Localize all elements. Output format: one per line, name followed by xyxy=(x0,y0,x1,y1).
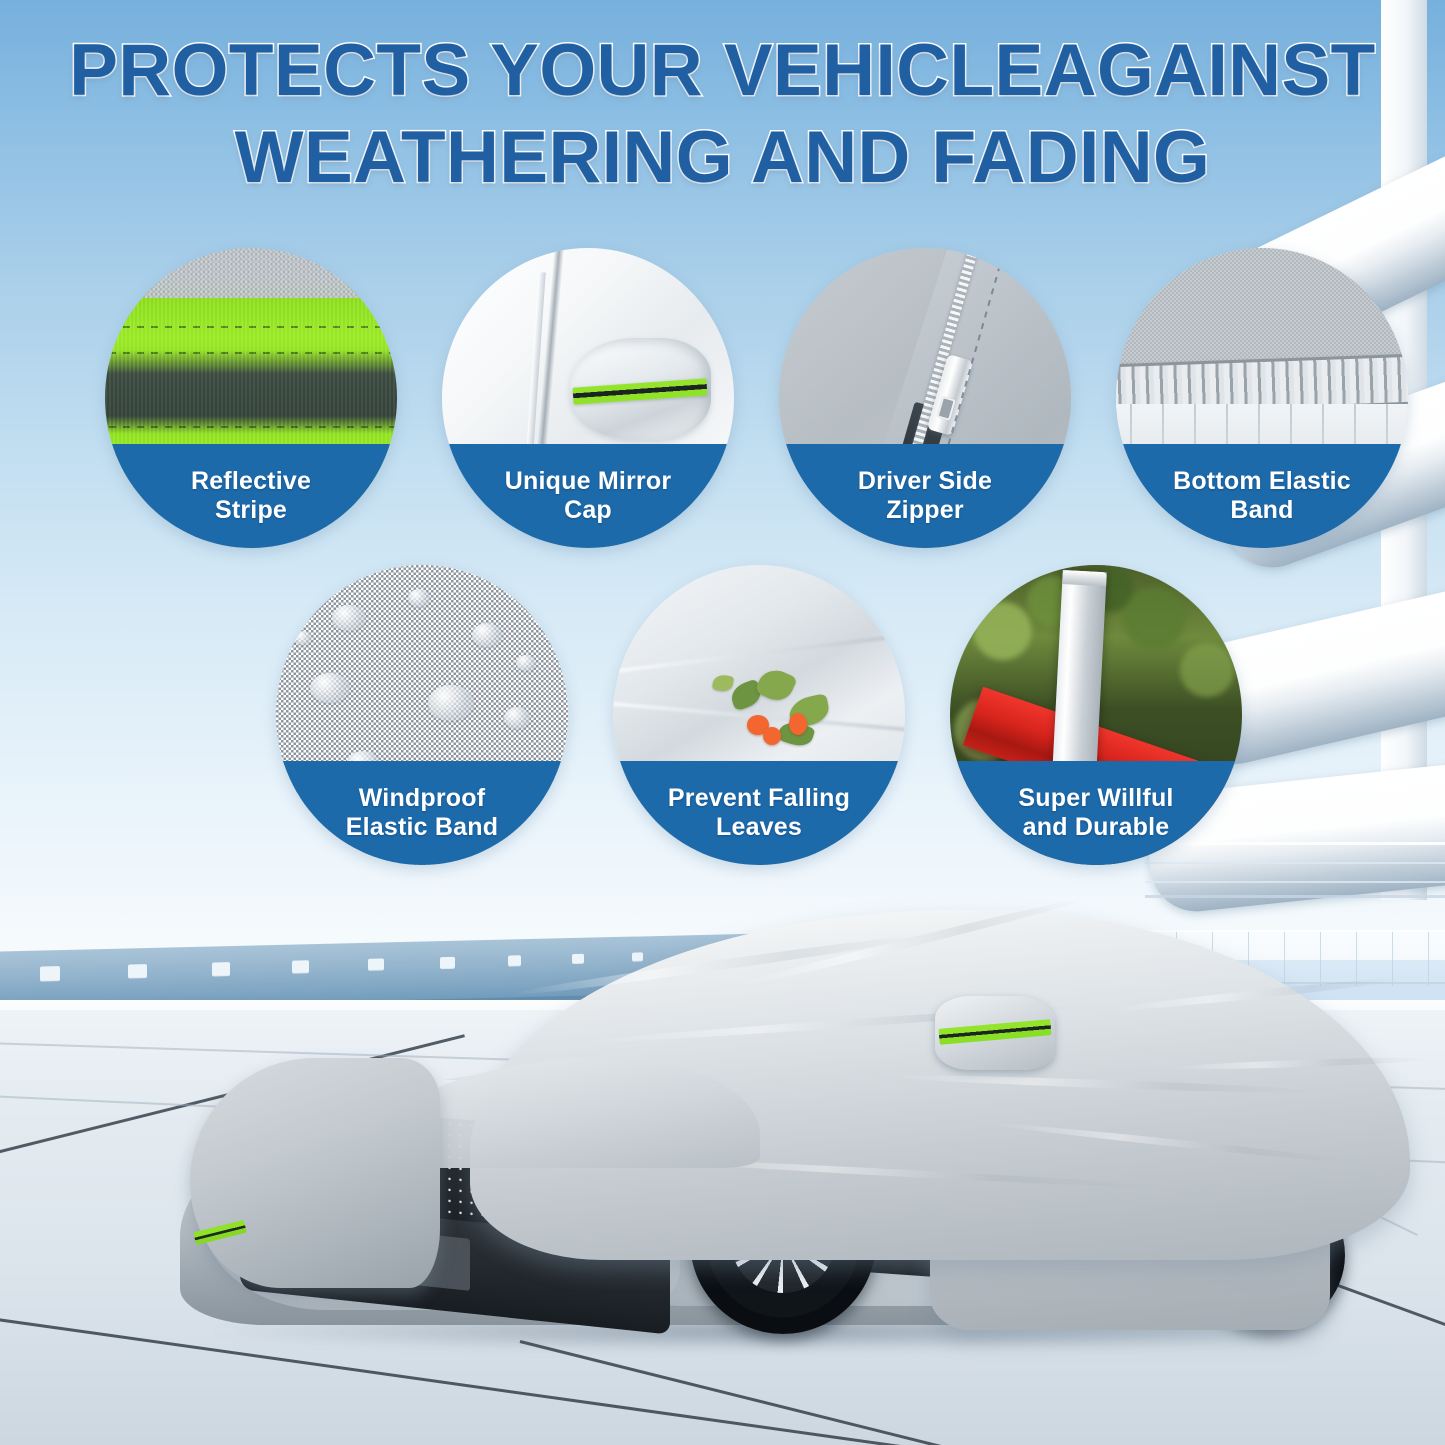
feature-label-line-1: Prevent Falling xyxy=(668,784,850,812)
feature-label-line-1: Bottom Elastic xyxy=(1173,467,1351,495)
cover-fabric-top xyxy=(1116,248,1408,368)
water-droplet-icon xyxy=(504,707,530,729)
cover-wrinkle xyxy=(991,1120,1370,1167)
water-droplet-icon xyxy=(332,605,366,631)
cover-wrinkle xyxy=(890,1072,1320,1095)
feature-label-band: Windproof Elastic Band xyxy=(276,761,568,865)
feature-label: Super Willful and Durable xyxy=(1010,784,1181,842)
feature-label: Bottom Elastic Band xyxy=(1165,467,1359,525)
feature-label-line-2: Band xyxy=(1230,496,1293,524)
feature-label-band: Driver Side Zipper xyxy=(779,444,1071,548)
feature-label-band: Reflective Stripe xyxy=(105,444,397,548)
feature-label-line-2: Leaves xyxy=(716,813,802,841)
feature-label: Reflective Stripe xyxy=(183,467,319,525)
product-infographic-stage: PROTECTS YOUR VEHICLEAGAINST WEATHERING … xyxy=(0,0,1445,1445)
feature-card-reflective-stripe[interactable]: Reflective Stripe xyxy=(105,248,397,548)
feature-label: Prevent Falling Leaves xyxy=(660,784,858,842)
feature-label-band: Super Willful and Durable xyxy=(950,761,1242,865)
feature-card-windproof-elastic-band[interactable]: Windproof Elastic Band xyxy=(276,565,568,865)
car-cover-mirror-pocket xyxy=(935,996,1055,1070)
hero-car-photo xyxy=(0,880,1445,1445)
feature-label-line-2: Elastic Band xyxy=(346,813,498,841)
feature-card-prevent-falling-leaves[interactable]: Prevent Falling Leaves xyxy=(613,565,905,865)
leaf-icon xyxy=(754,664,797,706)
feature-label-band: Bottom Elastic Band xyxy=(1116,444,1408,548)
water-droplet-icon xyxy=(516,655,536,671)
cover-wrinkle xyxy=(1110,974,1409,1013)
feature-label-line-1: Reflective xyxy=(191,467,311,495)
feature-label: Unique Mirror Cap xyxy=(497,467,680,525)
berry-icon xyxy=(789,713,807,735)
feature-label-band: Unique Mirror Cap xyxy=(442,444,734,548)
water-droplet-icon xyxy=(472,623,502,647)
feature-label-line-2: Cap xyxy=(564,496,612,524)
water-droplet-icon xyxy=(310,673,350,703)
reflective-green-stripe xyxy=(193,1220,247,1245)
feature-label-line-2: and Durable xyxy=(1023,813,1170,841)
cover-wrinkle xyxy=(1170,1055,1430,1071)
berry-icon xyxy=(763,727,781,745)
feature-label-line-1: Unique Mirror xyxy=(505,467,672,495)
water-droplet-icon xyxy=(408,589,430,607)
reflective-green-stripe xyxy=(939,1019,1052,1045)
feature-card-bottom-elastic-band[interactable]: Bottom Elastic Band xyxy=(1116,248,1408,548)
fabric-crease xyxy=(613,630,905,675)
leaf-icon xyxy=(712,673,734,692)
cover-wrinkle xyxy=(511,931,928,999)
feature-card-super-willful-and-durable[interactable]: Super Willful and Durable xyxy=(950,565,1242,865)
feature-label-line-2: Zipper xyxy=(886,496,964,524)
feature-label: Driver Side Zipper xyxy=(850,467,1000,525)
car-cover-front-nose xyxy=(190,1058,440,1288)
water-droplet-icon xyxy=(294,631,312,645)
feature-card-driver-side-zipper[interactable]: Driver Side Zipper xyxy=(779,248,1071,548)
water-droplet-icon xyxy=(428,685,474,721)
feature-label-line-1: Driver Side xyxy=(858,467,992,495)
feature-card-unique-mirror-cap[interactable]: Unique Mirror Cap xyxy=(442,248,734,548)
feature-label-line-2: Stripe xyxy=(215,496,287,524)
feature-label-band: Prevent Falling Leaves xyxy=(613,761,905,865)
cover-wrinkle xyxy=(734,895,1085,991)
feature-label: Windproof Elastic Band xyxy=(338,784,506,842)
feature-label-line-1: Windproof xyxy=(359,784,486,812)
feature-label-line-1: Super Willful xyxy=(1018,784,1173,812)
